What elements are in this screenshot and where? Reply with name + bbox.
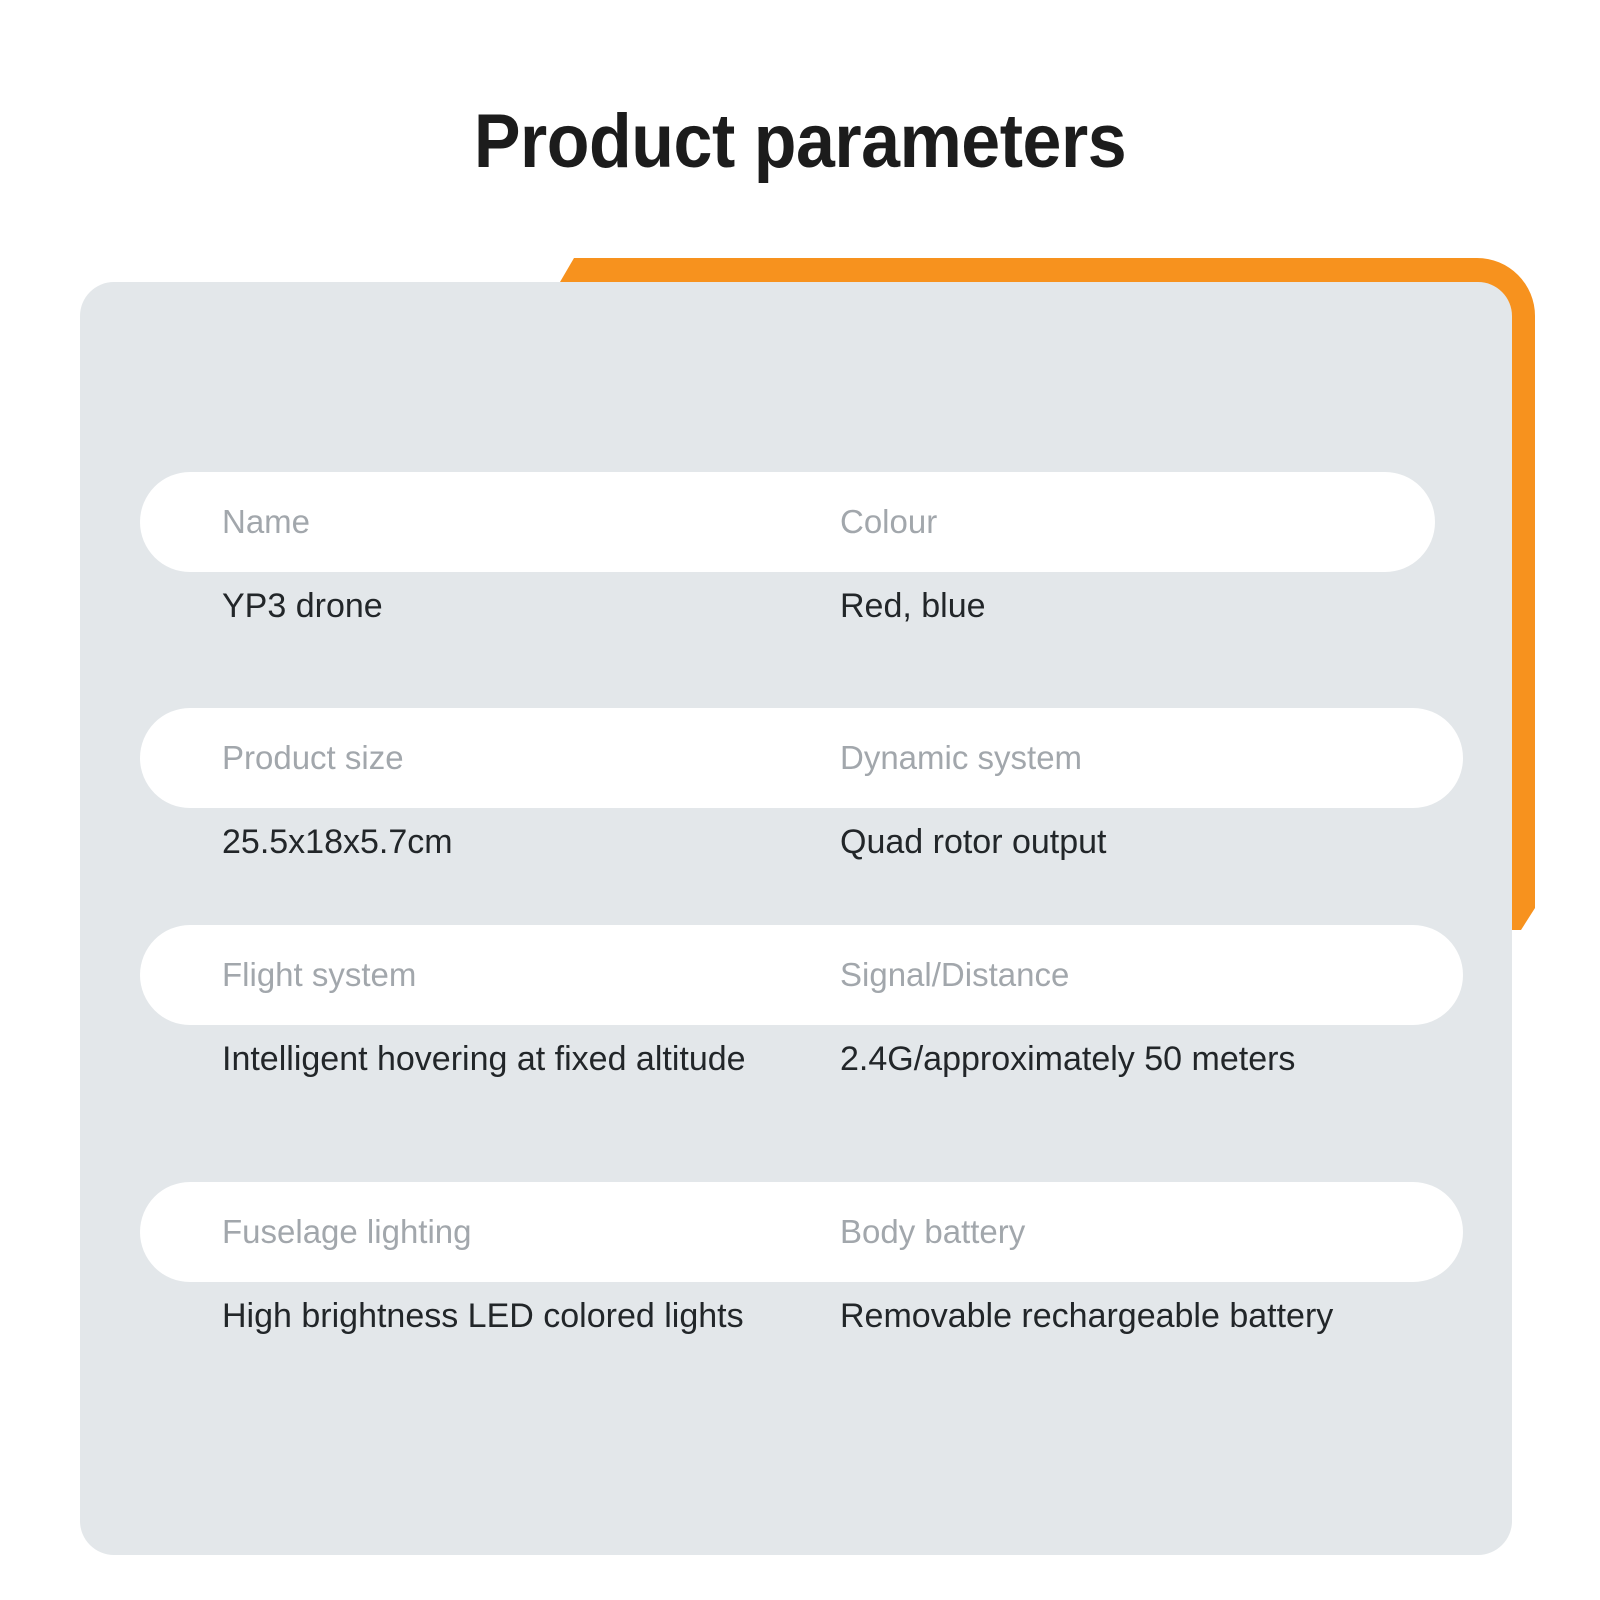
spec-value-dynamic-system: Quad rotor output: [840, 820, 1107, 864]
spec-label-dynamic-system: Dynamic system: [840, 708, 1082, 808]
spec-label-product-size: Product size: [222, 708, 404, 808]
spec-value-signal-distance: 2.4G/approximately 50 meters: [840, 1037, 1295, 1081]
spec-label-flight-system: Flight system: [222, 925, 416, 1025]
label-pill: [140, 472, 1435, 572]
spec-card: Name Colour YP3 drone Red, blue Product …: [80, 282, 1512, 1555]
spec-value-body-battery: Removable rechargeable battery: [840, 1294, 1333, 1338]
spec-label-name: Name: [222, 472, 310, 572]
product-parameters-page: Product parameters Name Colour YP3 drone…: [0, 0, 1600, 1600]
spec-value-colour: Red, blue: [840, 584, 986, 628]
spec-label-body-battery: Body battery: [840, 1182, 1025, 1282]
spec-value-flight-system: Intelligent hovering at fixed altitude: [222, 1037, 746, 1081]
spec-label-colour: Colour: [840, 472, 937, 572]
spec-label-fuselage-lighting: Fuselage lighting: [222, 1182, 472, 1282]
spec-value-fuselage-lighting: High brightness LED colored lights: [222, 1294, 744, 1338]
spec-label-signal-distance: Signal/Distance: [840, 925, 1069, 1025]
page-title: Product parameters: [64, 96, 1536, 188]
spec-value-name: YP3 drone: [222, 584, 383, 628]
spec-value-product-size: 25.5x18x5.7cm: [222, 820, 453, 864]
